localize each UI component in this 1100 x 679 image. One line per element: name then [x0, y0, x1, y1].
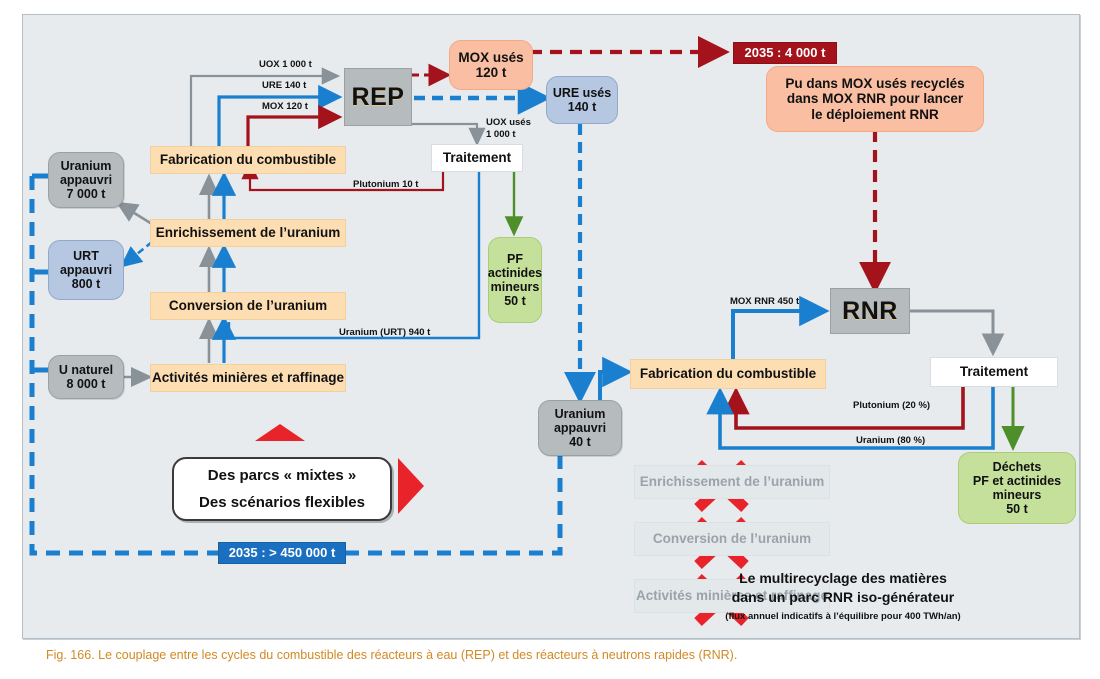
output-ure-uses[interactable]: URE usés 140 t [546, 76, 618, 124]
pu-line-1: Pu dans MOX usés recyclés [785, 76, 964, 91]
red-tag-2035[interactable]: 2035 : 4 000 t [733, 42, 837, 64]
waste-line-2: PF et actinides [973, 474, 1061, 488]
ua-line-1: Uranium [555, 407, 606, 421]
waste-line-3: mineurs [993, 488, 1042, 502]
stock-urt-appauvri-800t[interactable]: URT appauvri 800 t [48, 240, 124, 300]
flow-label-uranium-urt: Uranium (URT) 940 t [339, 328, 430, 339]
ure-line-2: 140 t [568, 100, 597, 114]
flow-label-uox-used-2: 1 000 t [486, 130, 516, 141]
pu-callout-box[interactable]: Pu dans MOX usés recyclés dans MOX RNR p… [766, 66, 984, 132]
rep-step-enrichissement[interactable]: Enrichissement de l’uranium [150, 219, 346, 247]
stock-line-1: Uranium [61, 159, 112, 173]
mixed-line-1: Des parcs « mixtes » [208, 467, 356, 484]
flow-label-ure-in: URE 140 t [262, 81, 306, 92]
mox-line-2: 120 t [476, 65, 507, 80]
step-label: Enrichissement de l’uranium [640, 474, 825, 489]
rnr-subtitle: (flux annuel indicatifs à l’équilibre po… [725, 611, 960, 622]
flow-label-uox-used-1: UOX usés [486, 118, 531, 129]
stock-line-2: appauvri [60, 263, 112, 277]
rnr-disabled-enrichissement: Enrichissement de l’uranium [634, 465, 830, 499]
waste-line-1: Déchets [993, 460, 1042, 474]
flow-label-uranium-rnr: Uranium (80 %) [856, 436, 925, 447]
pf-line-2: actinides [488, 266, 542, 280]
rnr-reactor-label: RNR [842, 297, 898, 326]
pf-line-4: 50 t [504, 294, 526, 308]
stock-line-1: URT [73, 249, 99, 263]
pu-line-3: le déploiement RNR [811, 107, 939, 122]
traitement-label: Traitement [443, 150, 511, 165]
rnr-disabled-conversion: Conversion de l’uranium [634, 522, 830, 556]
pu-line-2: dans MOX RNR pour lancer [787, 91, 963, 106]
step-label: Activités minières et raffinage [152, 370, 344, 385]
flow-label-uox-in: UOX 1 000 t [259, 60, 312, 71]
flow-label-plutonium-rep: Plutonium 10 t [353, 180, 418, 191]
flow-label-mox-rnr: MOX RNR 450 t [730, 297, 799, 308]
rnr-step-fabrication[interactable]: Fabrication du combustible [630, 359, 826, 389]
ua-line-2: appauvri [554, 421, 606, 435]
step-label: Conversion de l’uranium [169, 298, 327, 313]
stock-uranium-appauvri-7000t[interactable]: Uranium appauvri 7 000 t [48, 152, 124, 208]
figure-caption: Fig. 166. Le couplage entre les cycles d… [46, 648, 1066, 662]
mox-line-1: MOX usés [458, 50, 523, 65]
mixed-parks-callout[interactable]: Des parcs « mixtes » Des scénarios flexi… [172, 457, 392, 521]
rep-reactor-label: REP [352, 83, 405, 112]
blue-tag-2035[interactable]: 2035 : > 450 000 t [218, 542, 346, 564]
pf-line-3: mineurs [491, 280, 540, 294]
red-tag-label: 2035 : 4 000 t [745, 46, 826, 61]
ure-line-1: URE usés [553, 86, 611, 100]
figure-stage: REP Fabrication du combustible Enrichiss… [0, 0, 1100, 679]
rep-step-conversion[interactable]: Conversion de l’uranium [150, 292, 346, 320]
rnr-waste-box[interactable]: Déchets PF et actinides mineurs 50 t [958, 452, 1076, 524]
step-label: Enrichissement de l’uranium [156, 225, 341, 240]
rep-traitement-box[interactable]: Traitement [431, 144, 523, 172]
step-label: Fabrication du combustible [160, 152, 336, 167]
waste-line-4: 50 t [1006, 502, 1028, 516]
output-uranium-appauvri-40t[interactable]: Uranium appauvri 40 t [538, 400, 622, 456]
traitement-label: Traitement [960, 364, 1028, 379]
stock-line-3: 800 t [72, 277, 101, 291]
step-label: Conversion de l’uranium [653, 531, 811, 546]
rep-reactor-box[interactable]: REP [344, 68, 412, 126]
rnr-reactor-box[interactable]: RNR [830, 288, 910, 334]
output-pf-actinides-mineurs[interactable]: PF actinides mineurs 50 t [488, 237, 542, 323]
rep-step-fabrication[interactable]: Fabrication du combustible [150, 146, 346, 174]
output-mox-uses[interactable]: MOX usés 120 t [449, 40, 533, 90]
flow-label-mox-in: MOX 120 t [262, 102, 308, 113]
rep-step-minieres[interactable]: Activités minières et raffinage [150, 364, 346, 392]
stock-line-3: 7 000 t [67, 187, 106, 201]
pf-line-1: PF [507, 252, 523, 266]
ua-line-3: 40 t [569, 435, 591, 449]
rnr-title-line-1: Le multirecyclage des matières [739, 570, 947, 588]
blue-tag-label: 2035 : > 450 000 t [229, 546, 336, 561]
stock-line-1: U naturel [59, 363, 113, 377]
stock-line-2: appauvri [60, 173, 112, 187]
stock-u-naturel-8000t[interactable]: U naturel 8 000 t [48, 355, 124, 399]
mixed-line-2: Des scénarios flexibles [199, 494, 365, 511]
flow-label-plutonium-rnr: Plutonium (20 %) [853, 401, 930, 412]
rnr-traitement-box[interactable]: Traitement [930, 357, 1058, 387]
step-label: Fabrication du combustible [640, 366, 816, 381]
stock-line-2: 8 000 t [67, 377, 106, 391]
rnr-title-line-2: dans un parc RNR iso-générateur [732, 589, 955, 607]
